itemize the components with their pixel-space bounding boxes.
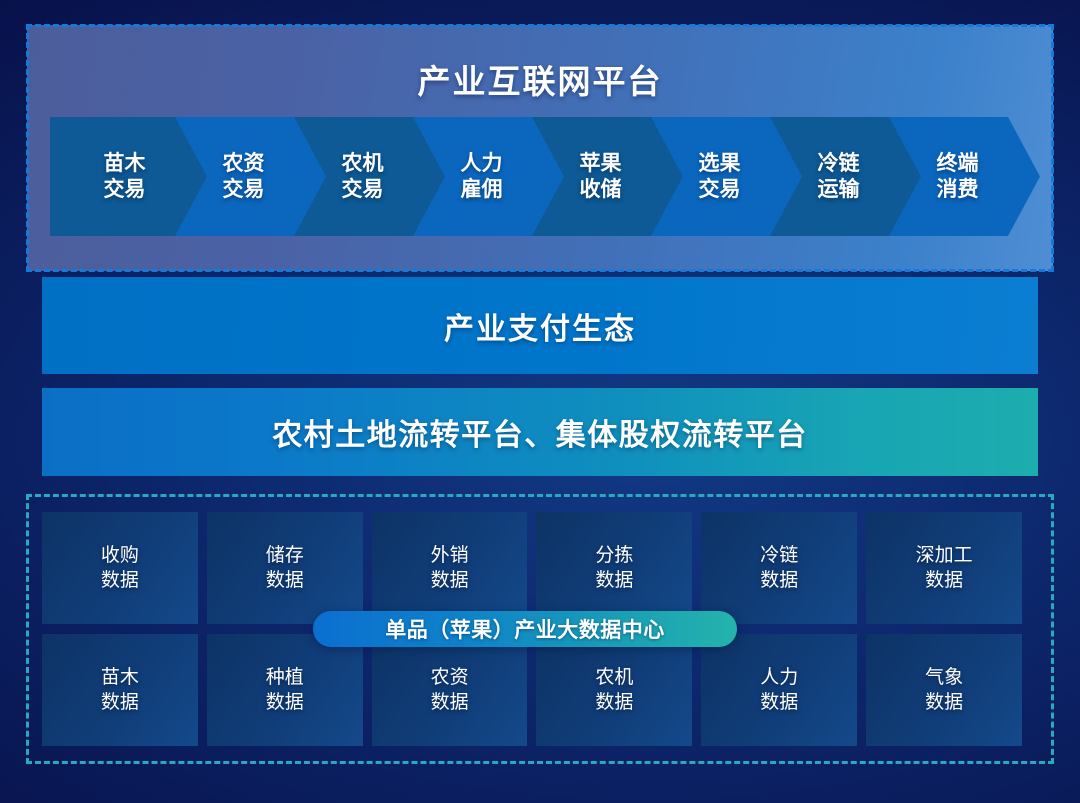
data-card[interactable]: 储存数据 xyxy=(207,512,363,624)
big-data-center-label: 单品（苹果）产业大数据中心 xyxy=(385,614,665,644)
data-card-label: 人力数据 xyxy=(760,665,798,715)
data-card-label: 农机数据 xyxy=(595,665,633,715)
data-card[interactable]: 农机数据 xyxy=(536,634,692,746)
data-card[interactable]: 外销数据 xyxy=(372,512,528,624)
data-card-label: 苗木数据 xyxy=(101,665,139,715)
value-chain-chevron-strip: 苗木交易农资交易农机交易人力雇佣苹果收储选果交易冷链运输终端消费 xyxy=(50,117,1030,236)
chevron-step-label: 苗木交易 xyxy=(104,151,146,202)
data-card-line-2: 数据 xyxy=(595,568,633,593)
big-data-center-pill[interactable]: 单品（苹果）产业大数据中心 xyxy=(313,611,737,647)
data-card-line-1: 苗木 xyxy=(101,665,139,690)
data-card-line-1: 外销 xyxy=(431,543,469,568)
data-card-label: 外销数据 xyxy=(431,543,469,593)
chevron-step-1[interactable]: 苗木交易 xyxy=(50,117,207,236)
data-card-line-1: 种植 xyxy=(266,665,304,690)
data-card-line-1: 储存 xyxy=(266,543,304,568)
data-card-line-1: 冷链 xyxy=(760,543,798,568)
chevron-step-label: 农机交易 xyxy=(342,151,384,202)
data-card-line-2: 数据 xyxy=(595,690,633,715)
data-card-label: 分拣数据 xyxy=(595,543,633,593)
data-card-label: 深加工数据 xyxy=(916,543,973,593)
data-card-line-1: 农资 xyxy=(431,665,469,690)
land-transfer-platform-band[interactable]: 农村土地流转平台、集体股权流转平台 xyxy=(42,388,1038,476)
data-card-label: 储存数据 xyxy=(266,543,304,593)
chevron-line-2: 交易 xyxy=(342,177,384,203)
chevron-step-label: 农资交易 xyxy=(223,151,265,202)
data-card-line-2: 数据 xyxy=(101,690,139,715)
chevron-line-2: 运输 xyxy=(818,177,860,203)
chevron-step-label: 人力雇佣 xyxy=(461,151,503,202)
diagram-poster: 产业互联网平台 苗木交易农资交易农机交易人力雇佣苹果收储选果交易冷链运输终端消费… xyxy=(0,0,1080,803)
data-card-line-1: 气象 xyxy=(925,665,963,690)
data-card-label: 气象数据 xyxy=(925,665,963,715)
chevron-line-2: 交易 xyxy=(699,177,741,203)
data-card-line-2: 数据 xyxy=(431,690,469,715)
chevron-step-label: 选果交易 xyxy=(699,151,741,202)
chevron-line-2: 雇佣 xyxy=(461,177,503,203)
chevron-line-1: 终端 xyxy=(937,151,979,177)
data-card-line-1: 收购 xyxy=(101,543,139,568)
data-card[interactable]: 气象数据 xyxy=(866,634,1022,746)
data-card-line-1: 人力 xyxy=(760,665,798,690)
data-card-line-2: 数据 xyxy=(916,568,973,593)
data-card[interactable]: 收购数据 xyxy=(42,512,198,624)
chevron-line-2: 消费 xyxy=(937,177,979,203)
chevron-step-label: 冷链运输 xyxy=(818,151,860,202)
data-card-line-2: 数据 xyxy=(760,690,798,715)
chevron-step-label: 苹果收储 xyxy=(580,151,622,202)
data-card[interactable]: 农资数据 xyxy=(372,634,528,746)
chevron-line-1: 农机 xyxy=(342,151,384,177)
chevron-line-2: 收储 xyxy=(580,177,622,203)
data-card[interactable]: 冷链数据 xyxy=(701,512,857,624)
data-card-line-1: 农机 xyxy=(595,665,633,690)
data-card-line-2: 数据 xyxy=(431,568,469,593)
chevron-line-1: 人力 xyxy=(461,151,503,177)
data-card-line-1: 分拣 xyxy=(595,543,633,568)
data-card-label: 收购数据 xyxy=(101,543,139,593)
data-card[interactable]: 人力数据 xyxy=(701,634,857,746)
land-transfer-platform-label: 农村土地流转平台、集体股权流转平台 xyxy=(272,410,808,454)
data-card-label: 种植数据 xyxy=(266,665,304,715)
payment-ecosystem-label: 产业支付生态 xyxy=(444,304,636,348)
data-card-line-2: 数据 xyxy=(266,690,304,715)
chevron-line-1: 选果 xyxy=(699,151,741,177)
chevron-line-2: 交易 xyxy=(104,177,146,203)
data-card-line-2: 数据 xyxy=(760,568,798,593)
chevron-line-1: 农资 xyxy=(223,151,265,177)
data-card-label: 农资数据 xyxy=(431,665,469,715)
chevron-line-1: 苹果 xyxy=(580,151,622,177)
data-card[interactable]: 分拣数据 xyxy=(536,512,692,624)
chevron-step-label: 终端消费 xyxy=(937,151,979,202)
data-card-line-2: 数据 xyxy=(925,690,963,715)
data-card-line-2: 数据 xyxy=(266,568,304,593)
payment-ecosystem-band[interactable]: 产业支付生态 xyxy=(42,277,1038,374)
data-card-line-1: 深加工 xyxy=(916,543,973,568)
data-card[interactable]: 深加工数据 xyxy=(866,512,1022,624)
data-card[interactable]: 苗木数据 xyxy=(42,634,198,746)
chevron-line-2: 交易 xyxy=(223,177,265,203)
data-card-label: 冷链数据 xyxy=(760,543,798,593)
data-card-line-2: 数据 xyxy=(101,568,139,593)
data-card[interactable]: 种植数据 xyxy=(207,634,363,746)
chevron-line-1: 苗木 xyxy=(104,151,146,177)
chevron-line-1: 冷链 xyxy=(818,151,860,177)
